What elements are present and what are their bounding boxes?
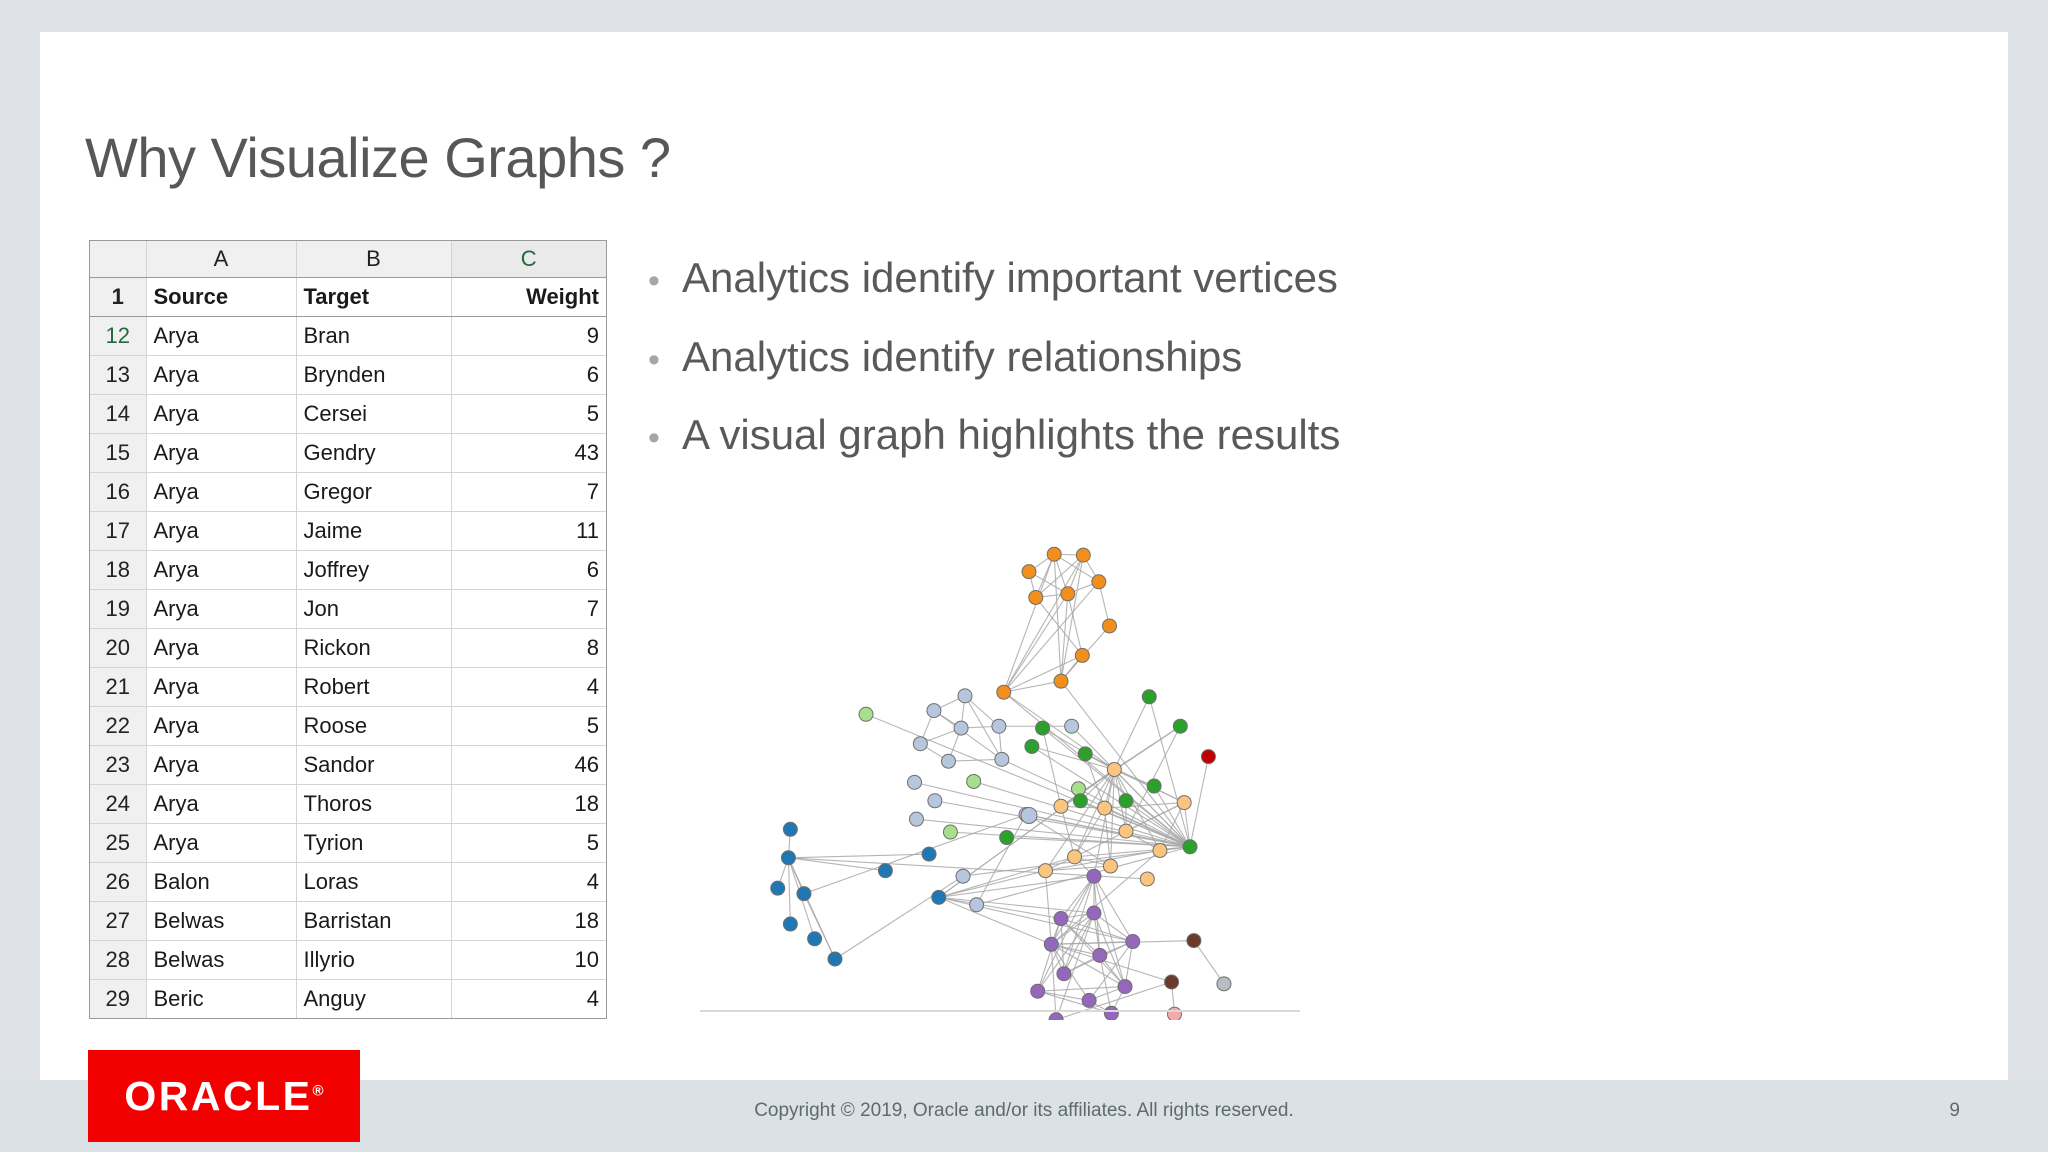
cell-weight[interactable]: 4: [451, 980, 606, 1019]
row-number[interactable]: 18: [90, 551, 146, 590]
cell-target[interactable]: Jon: [296, 590, 451, 629]
graph-node[interactable]: [908, 775, 922, 789]
graph-node[interactable]: [913, 737, 927, 751]
cell-source[interactable]: Arya: [146, 668, 296, 707]
graph-node[interactable]: [1104, 1006, 1118, 1020]
cell-target[interactable]: Brynden: [296, 356, 451, 395]
bullet-item: •A visual graph highlights the results: [648, 409, 1828, 462]
graph-edge: [1004, 582, 1099, 692]
table-row[interactable]: 24AryaThoros18: [90, 785, 606, 824]
graph-node[interactable]: [1098, 801, 1112, 815]
graph-node[interactable]: [943, 825, 957, 839]
graph-node[interactable]: [808, 932, 822, 946]
graph-node[interactable]: [1065, 719, 1079, 733]
graph-node[interactable]: [1093, 948, 1107, 962]
graph-node[interactable]: [954, 721, 968, 735]
cell-target[interactable]: Barristan: [296, 902, 451, 941]
table-row[interactable]: 17AryaJaime11: [90, 512, 606, 551]
graph-node[interactable]: [967, 774, 981, 788]
graph-node[interactable]: [992, 719, 1006, 733]
graph-node[interactable]: [783, 822, 797, 836]
row-number[interactable]: 12: [90, 317, 146, 356]
graph-node[interactable]: [1092, 575, 1106, 589]
graph-node[interactable]: [1057, 967, 1071, 981]
table-row[interactable]: 19AryaJon7: [90, 590, 606, 629]
graph-edge: [1194, 941, 1224, 984]
graph-node[interactable]: [941, 754, 955, 768]
page-number: 9: [1949, 1100, 1960, 1122]
cell-target[interactable]: Cersei: [296, 395, 451, 434]
cell-weight[interactable]: 43: [451, 434, 606, 473]
bullet-text: A visual graph highlights the results: [682, 409, 1828, 462]
graph-node[interactable]: [1082, 993, 1096, 1007]
graph-node[interactable]: [1087, 869, 1101, 883]
cell-source[interactable]: Arya: [146, 785, 296, 824]
graph-edge: [835, 876, 963, 959]
cell-source[interactable]: Arya: [146, 590, 296, 629]
cell-weight[interactable]: 5: [451, 824, 606, 863]
table-row[interactable]: 18AryaJoffrey6: [90, 551, 606, 590]
cell-target[interactable]: Robert: [296, 668, 451, 707]
cell-source[interactable]: Belwas: [146, 902, 296, 941]
cell-target[interactable]: Joffrey: [296, 551, 451, 590]
graph-node[interactable]: [1119, 794, 1133, 808]
graph-node[interactable]: [1054, 912, 1068, 926]
row-number[interactable]: 20: [90, 629, 146, 668]
spreadsheet-table[interactable]: A B C 1 Source Target Weight 12AryaBran9…: [89, 240, 607, 1019]
row-number[interactable]: 17: [90, 512, 146, 551]
cell-weight[interactable]: 9: [451, 317, 606, 356]
cell-target[interactable]: Tyrion: [296, 824, 451, 863]
sheet-grid: A B C 1 Source Target Weight 12AryaBran9…: [90, 241, 606, 1018]
graph-edge: [1045, 866, 1110, 871]
cell-target[interactable]: Roose: [296, 707, 451, 746]
graph-node[interactable]: [878, 864, 892, 878]
cell-source[interactable]: Belwas: [146, 941, 296, 980]
page-title: Why Visualize Graphs ?: [85, 125, 671, 190]
graph-node[interactable]: [828, 952, 842, 966]
graph-node[interactable]: [909, 812, 923, 826]
graph-node[interactable]: [1187, 934, 1201, 948]
field-header-row: 1 Source Target Weight: [90, 278, 606, 317]
cell-weight[interactable]: 6: [451, 551, 606, 590]
row-number-1[interactable]: 1: [90, 278, 146, 317]
graph-node[interactable]: [1140, 872, 1154, 886]
row-number[interactable]: 21: [90, 668, 146, 707]
table-row[interactable]: 28BelwasIllyrio10: [90, 941, 606, 980]
table-row[interactable]: 26BalonLoras4: [90, 863, 606, 902]
cell-source[interactable]: Arya: [146, 746, 296, 785]
graph-edge: [788, 858, 790, 924]
graph-node[interactable]: [1103, 859, 1117, 873]
graph-node[interactable]: [927, 704, 941, 718]
cell-source[interactable]: Arya: [146, 629, 296, 668]
table-row[interactable]: 25AryaTyrion5: [90, 824, 606, 863]
bullet-dot-icon: •: [648, 421, 682, 455]
cell-target[interactable]: Jaime: [296, 512, 451, 551]
graph-edge: [1054, 554, 1061, 681]
graph-edge: [939, 897, 1052, 944]
graph-edge: [1043, 728, 1190, 847]
cell-source[interactable]: Arya: [146, 551, 296, 590]
bullet-dot-icon: •: [648, 264, 682, 298]
row-number[interactable]: 25: [90, 824, 146, 863]
graph-node[interactable]: [1119, 824, 1133, 838]
row-number[interactable]: 27: [90, 902, 146, 941]
field-header-source: Source: [146, 278, 296, 317]
graph-node[interactable]: [797, 887, 811, 901]
graph-node[interactable]: [1142, 690, 1156, 704]
row-number[interactable]: 24: [90, 785, 146, 824]
cell-source[interactable]: Arya: [146, 395, 296, 434]
row-number[interactable]: 13: [90, 356, 146, 395]
cell-target[interactable]: Gendry: [296, 434, 451, 473]
row-number[interactable]: 23: [90, 746, 146, 785]
field-header-weight: Weight: [451, 278, 606, 317]
cell-weight[interactable]: 5: [451, 707, 606, 746]
graph-edge: [788, 858, 885, 871]
cell-weight[interactable]: 7: [451, 473, 606, 512]
cell-weight[interactable]: 18: [451, 785, 606, 824]
graph-node[interactable]: [1036, 721, 1050, 735]
graph-node[interactable]: [1044, 937, 1058, 951]
graph-node[interactable]: [1118, 980, 1132, 994]
graph-node[interactable]: [1177, 796, 1191, 810]
row-number[interactable]: 16: [90, 473, 146, 512]
row-number[interactable]: 19: [90, 590, 146, 629]
graph-node[interactable]: [1201, 750, 1215, 764]
cell-source[interactable]: Arya: [146, 824, 296, 863]
graph-node[interactable]: [1054, 674, 1068, 688]
graph-node[interactable]: [1087, 906, 1101, 920]
cell-weight[interactable]: 11: [451, 512, 606, 551]
graph-edge: [948, 759, 1001, 761]
graph-node[interactable]: [1147, 779, 1161, 793]
cell-source[interactable]: Arya: [146, 356, 296, 395]
cell-source[interactable]: Arya: [146, 473, 296, 512]
registered-mark-icon: ®: [313, 1082, 324, 1099]
graph-nodes: [771, 547, 1231, 1020]
table-row[interactable]: 15AryaGendry43: [90, 434, 606, 473]
graph-node[interactable]: [781, 851, 795, 865]
table-row[interactable]: 23AryaSandor46: [90, 746, 606, 785]
cell-source[interactable]: Beric: [146, 980, 296, 1019]
graph-node[interactable]: [1038, 864, 1052, 878]
graph-node[interactable]: [1061, 587, 1075, 601]
graph-node[interactable]: [859, 707, 873, 721]
cell-source[interactable]: Arya: [146, 512, 296, 551]
copyright-text: Copyright © 2019, Oracle and/or its affi…: [0, 1100, 2048, 1122]
column-header-a[interactable]: A: [146, 241, 296, 278]
cell-weight[interactable]: 4: [451, 863, 606, 902]
bullet-text: Analytics identify important vertices: [682, 252, 1828, 305]
row-number[interactable]: 28: [90, 941, 146, 980]
graph-node[interactable]: [970, 898, 984, 912]
graph-edge: [1105, 803, 1185, 809]
graph-node[interactable]: [922, 847, 936, 861]
row-number[interactable]: 22: [90, 707, 146, 746]
bullet-dot-icon: •: [648, 343, 682, 377]
graph-node[interactable]: [956, 869, 970, 883]
graph-node[interactable]: [1102, 619, 1116, 633]
cell-target[interactable]: Thoros: [296, 785, 451, 824]
cell-weight[interactable]: 5: [451, 395, 606, 434]
graph-node[interactable]: [1029, 590, 1043, 604]
graph-node[interactable]: [1054, 799, 1068, 813]
bullet-item: •Analytics identify relationships: [648, 331, 1828, 384]
graph-node[interactable]: [995, 752, 1009, 766]
sheet-body: 1 Source Target Weight 12AryaBran913Arya…: [90, 278, 606, 1019]
column-header-row: A B C: [90, 241, 606, 278]
cell-target[interactable]: Bran: [296, 317, 451, 356]
row-number[interactable]: 26: [90, 863, 146, 902]
graph-node[interactable]: [1047, 547, 1061, 561]
cell-target[interactable]: Loras: [296, 863, 451, 902]
graph-node[interactable]: [1153, 843, 1167, 857]
graph-node[interactable]: [932, 890, 946, 904]
graph-node[interactable]: [1078, 747, 1092, 761]
graph-node[interactable]: [1000, 831, 1014, 845]
bullet-item: •Analytics identify important vertices: [648, 252, 1828, 305]
graph-node[interactable]: [1217, 977, 1231, 991]
graph-node[interactable]: [1107, 762, 1121, 776]
graph-edge: [939, 871, 1046, 898]
column-header-c[interactable]: C: [451, 241, 606, 278]
graph-node[interactable]: [783, 917, 797, 931]
graph-node[interactable]: [997, 685, 1011, 699]
cell-target[interactable]: Illyrio: [296, 941, 451, 980]
graph-node[interactable]: [1126, 935, 1140, 949]
graph-edge: [1038, 991, 1112, 1013]
graph-node[interactable]: [1025, 739, 1039, 753]
cell-target[interactable]: Gregor: [296, 473, 451, 512]
row-number[interactable]: 15: [90, 434, 146, 473]
cell-target[interactable]: Rickon: [296, 629, 451, 668]
graph-node[interactable]: [958, 689, 972, 703]
graph-node[interactable]: [1076, 548, 1090, 562]
network-graph: [700, 520, 1300, 1020]
row-number[interactable]: 14: [90, 395, 146, 434]
cell-weight[interactable]: 10: [451, 941, 606, 980]
graph-edge: [1038, 919, 1061, 992]
cell-weight[interactable]: 6: [451, 356, 606, 395]
cell-target[interactable]: Anguy: [296, 980, 451, 1019]
cell-weight[interactable]: 7: [451, 590, 606, 629]
graph-node[interactable]: [771, 881, 785, 895]
graph-edge: [1043, 728, 1061, 806]
table-row[interactable]: 29BericAnguy4: [90, 980, 606, 1019]
graph-edge: [1054, 554, 1099, 582]
cell-weight[interactable]: 46: [451, 746, 606, 785]
graph-node[interactable]: [1073, 794, 1087, 808]
cell-weight[interactable]: 18: [451, 902, 606, 941]
bullet-list: •Analytics identify important vertices•A…: [648, 252, 1828, 488]
graph-node[interactable]: [1165, 975, 1179, 989]
cell-target[interactable]: Sandor: [296, 746, 451, 785]
table-row[interactable]: 14AryaCersei5: [90, 395, 606, 434]
table-row[interactable]: 12AryaBran9: [90, 317, 606, 356]
graph-node[interactable]: [1173, 719, 1187, 733]
graph-node[interactable]: [1183, 840, 1197, 854]
graph-node[interactable]: [1068, 850, 1082, 864]
select-all-corner[interactable]: [90, 241, 146, 278]
graph-node[interactable]: [1167, 1007, 1181, 1020]
bullet-text: Analytics identify relationships: [682, 331, 1828, 384]
graph-node[interactable]: [1049, 1013, 1063, 1020]
graph-node[interactable]: [1022, 565, 1036, 579]
cell-source[interactable]: Arya: [146, 317, 296, 356]
cell-weight[interactable]: 4: [451, 668, 606, 707]
graph-edge: [1061, 594, 1068, 681]
table-row[interactable]: 22AryaRoose5: [90, 707, 606, 746]
graph-node[interactable]: [1021, 807, 1037, 823]
table-row[interactable]: 16AryaGregor7: [90, 473, 606, 512]
graph-edge: [788, 854, 929, 858]
cell-source[interactable]: Arya: [146, 434, 296, 473]
slide-root: Why Visualize Graphs ? A B C 1 Source Ta…: [0, 0, 2048, 1152]
row-number[interactable]: 29: [90, 980, 146, 1019]
network-graph-svg: [700, 520, 1300, 1020]
graph-edge: [1004, 692, 1115, 769]
cell-source[interactable]: Balon: [146, 863, 296, 902]
table-row[interactable]: 20AryaRickon8: [90, 629, 606, 668]
graph-node[interactable]: [928, 794, 942, 808]
column-header-b[interactable]: B: [296, 241, 451, 278]
field-header-target: Target: [296, 278, 451, 317]
cell-weight[interactable]: 8: [451, 629, 606, 668]
graph-edge: [1190, 757, 1208, 847]
cell-source[interactable]: Arya: [146, 707, 296, 746]
graph-node[interactable]: [1031, 984, 1045, 998]
oracle-logo: ORACLE®: [88, 1050, 360, 1142]
graph-node[interactable]: [1075, 648, 1089, 662]
table-row[interactable]: 21AryaRobert4: [90, 668, 606, 707]
table-row[interactable]: 13AryaBrynden6: [90, 356, 606, 395]
table-row[interactable]: 27BelwasBarristan18: [90, 902, 606, 941]
